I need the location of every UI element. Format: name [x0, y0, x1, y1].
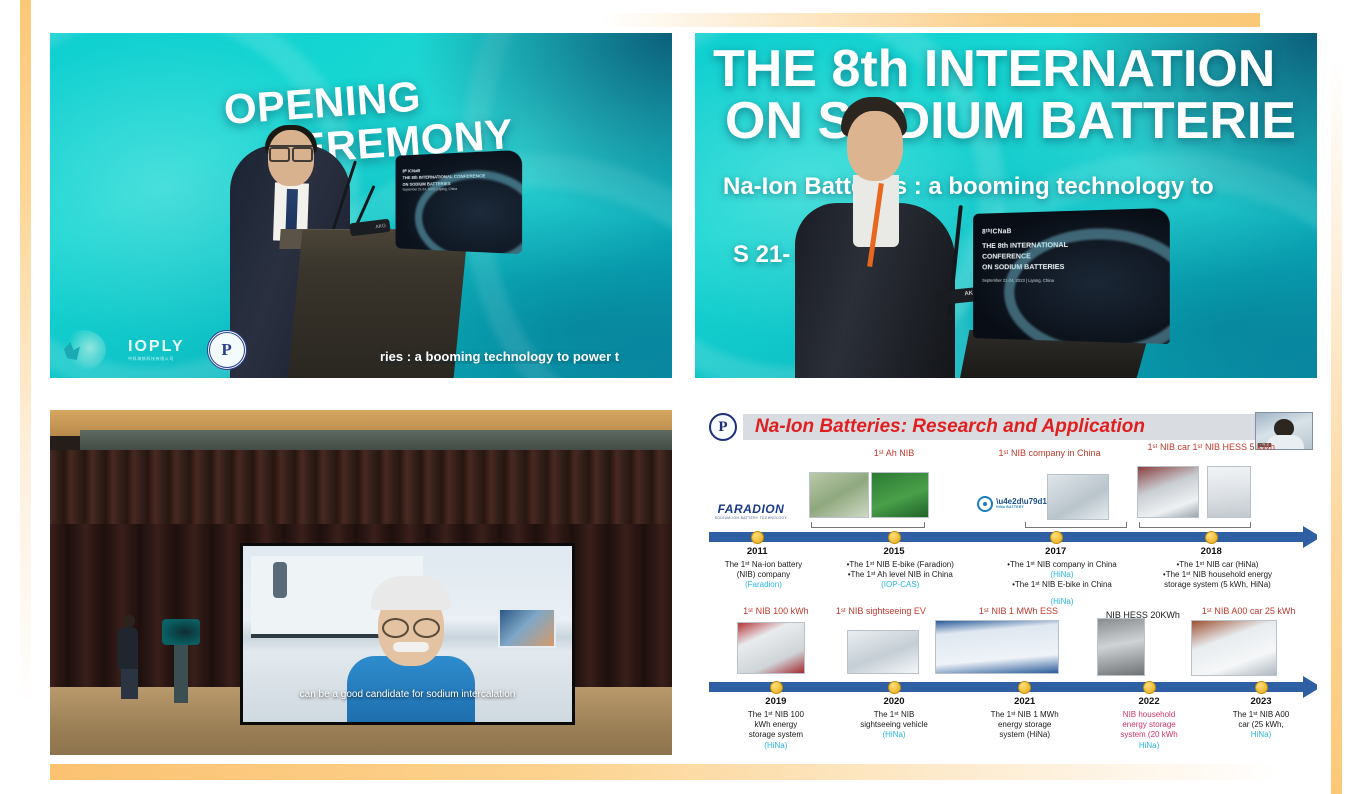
timeline-caption: The 1ˢᵗ NIB 1 MWh energy storage system …: [969, 710, 1081, 741]
auditorium-video-keynote-photo: can be a good candidate for sodium inter…: [50, 410, 672, 755]
thumbnail-sightseeing-ev: [847, 630, 919, 674]
timeline-year: 2023: [1250, 696, 1271, 707]
signage-line1: THE 8th INTERNATIONAL CONFERENCE: [982, 239, 1107, 262]
faradion-logo-sub: SODIUM-ION BATTERY TECHNOLOGY: [715, 516, 787, 520]
person-body: [118, 627, 138, 669]
stage-podium: [162, 619, 200, 703]
thumbnail-e-trike: [1047, 474, 1109, 520]
stage-curtain-valance: [50, 450, 672, 524]
institute-seal-icon: [709, 413, 737, 441]
podium-signage-text: 8ᵗʰICNaB THE 8th INTERNATIONAL CONFERENC…: [982, 226, 1107, 283]
thumbnail-nib-car: [1137, 466, 1199, 518]
timeline-caption: The 1ˢᵗ Na-ion battery (NIB) company (Fa…: [701, 560, 825, 591]
signage-line2: ON SODIUM BATTERIES: [982, 261, 1107, 272]
podium-signage: 8ᵗʰ ICNaB THE 8th INTERNATIONAL CONFEREN…: [396, 150, 523, 254]
ioply-logo-text: IOPLY: [128, 338, 185, 355]
opening-ceremony-photo: OPENING CEREMONY AKG 8ᵗʰ ICNaB THE 8th I…: [50, 33, 672, 378]
signage-date: September 21-24, 2023 | Liyang, China: [402, 187, 488, 193]
thumbnail-ebike: [809, 472, 869, 518]
screen-subtitle: ries : a booming technology to power t: [380, 349, 672, 364]
thumbnail-nib-hess: [1207, 466, 1251, 518]
timeline-node: [888, 681, 901, 694]
timeline-caption: •The 1ˢᵗ NIB E-bike (Faradion) •The 1ˢᵗ …: [812, 560, 988, 591]
thumbnail-hess-20kwh: [1097, 618, 1145, 676]
timeline-node: [770, 681, 783, 694]
timeline-node: [1050, 531, 1063, 544]
timeline-node: [1205, 531, 1218, 544]
video-caption: can be a good candidate for sodium inter…: [243, 689, 572, 700]
thumbnail-1mwh-ess: [935, 620, 1059, 674]
thumbnail-a00-car: [1191, 620, 1277, 676]
timeline-caption: •The 1ˢᵗ NIB car (HiNa) •The 1ˢᵗ NIB hou…: [1137, 560, 1297, 591]
sponsor-logo-row: IOPLY 中科海钠科技有限公司: [60, 330, 247, 370]
thumbnail-100kwh-ess: [737, 622, 805, 674]
na-ion-timeline-slide: Na-Ion Batteries: Research and Applicati…: [695, 410, 1317, 755]
faradion-logo: FARADION SODIUM-ION BATTERY TECHNOLOGY: [715, 502, 787, 520]
timeline-year: 2019: [765, 696, 786, 707]
glasses-icon: [382, 618, 440, 634]
led-screen: can be a good candidate for sodium inter…: [240, 543, 575, 725]
timeline-year: 2017: [1045, 546, 1066, 557]
on-stage-person: [118, 615, 140, 697]
podium-signage-text: 8ᵗʰ ICNaB THE 8th INTERNATIONAL CONFEREN…: [402, 166, 488, 193]
ioply-logo-sub: 中科海钠科技有限公司: [128, 356, 185, 362]
timeline-caption: The 1ˢᵗ NIB 100 kWh energy storage syste…: [722, 710, 830, 751]
slide-title-band: Na-Ion Batteries: Research and Applicati…: [743, 414, 1257, 440]
group-bracket: [811, 522, 925, 528]
glasses-icon: [269, 145, 313, 156]
hina-ring-icon: [977, 496, 993, 512]
institute-seal-icon: [207, 330, 247, 370]
conference-title-photo: THE 8th INTERNATION ON SODIUM BATTERIE N…: [695, 33, 1317, 378]
accent-bar-left: [20, 0, 31, 706]
timeline-row-2: 1ˢᵗ NIB 100 kWh 1ˢᵗ NIB sightseeing EV 1…: [695, 600, 1317, 755]
timeline-year: 2022: [1138, 696, 1159, 707]
signage-line2: ON SODIUM BATTERIES: [402, 180, 488, 188]
signage-line1: THE 8th INTERNATIONAL CONFERENCE: [402, 173, 488, 182]
screen-headline-line2: ON SODIUM BATTERIE: [725, 91, 1296, 151]
person-head: [123, 615, 135, 627]
timeline-node: [1255, 681, 1268, 694]
timeline-row-1: 1ˢᵗ Ah NIB 1ˢᵗ NIB company in China 1ˢᵗ …: [695, 440, 1317, 600]
accent-bar-right: [1331, 60, 1342, 794]
faradion-logo-text: FARADION: [718, 502, 785, 516]
milestone-top-label: 1ˢᵗ Ah NIB: [874, 448, 915, 458]
wall-picture: [498, 608, 556, 648]
photo-collage-grid: OPENING CEREMONY AKG 8ᵗʰ ICNaB THE 8th I…: [50, 33, 1290, 755]
milestone-top-label: 1ˢᵗ NIB 100 kWh: [743, 606, 809, 616]
timeline-year: 2015: [883, 546, 904, 557]
remote-speaker-hair: [371, 576, 451, 610]
slide-header: Na-Ion Batteries: Research and Applicati…: [695, 412, 1317, 442]
screen-subtitle-line1: Na-Ion Batteries : a booming technology …: [723, 173, 1214, 201]
milestone-top-label: 1ˢᵗ NIB sightseeing EV: [836, 606, 940, 616]
slide-canvas: Na-Ion Batteries: Research and Applicati…: [695, 410, 1317, 755]
accent-bar-bottom: [50, 764, 1280, 780]
timeline-year: 2011: [747, 546, 768, 557]
group-bracket: [1025, 522, 1127, 528]
timeline-year: 2018: [1201, 546, 1222, 557]
timeline-axis: [709, 682, 1305, 692]
thumbnail-ah-nib-pack: [871, 472, 929, 518]
timeline-caption: •The 1ˢᵗ NIB company in China (HiNa) •Th…: [978, 560, 1146, 591]
wall-speaker: [273, 562, 287, 598]
timeline-node: [888, 531, 901, 544]
moustache: [393, 642, 429, 652]
milestone-top-label: 1ˢᵗ NIB A00 car 25 kWh: [1202, 606, 1296, 616]
screen-headline-line1: THE 8th INTERNATION: [713, 39, 1275, 99]
timeline-node: [751, 531, 764, 544]
milestone-top-label: 1ˢᵗ NIB car 1ˢᵗ NIB HESS 5 kWh: [1136, 442, 1286, 452]
signage-brand: 8ᵗʰICNaB: [982, 226, 1107, 236]
podium-signage: 8ᵗʰICNaB THE 8th INTERNATIONAL CONFERENC…: [973, 208, 1170, 344]
signage-date: September 21-24, 2023 | Liyang, China: [982, 278, 1107, 283]
page-title: Na-Ion Batteries: Research and Applicati…: [743, 416, 1145, 438]
timeline-caption: The 1ˢᵗ NIB A00 car (25 kWh, HiNa): [1209, 710, 1313, 741]
moon-logo-icon: [60, 330, 106, 370]
ioply-logo: IOPLY 中科海钠科技有限公司: [128, 338, 185, 362]
accent-bar-top: [600, 13, 1260, 27]
timeline-year: 2021: [1014, 696, 1035, 707]
milestone-top-label: 1ˢᵗ NIB 1 MWh ESS: [979, 606, 1058, 616]
timeline-node: [1143, 681, 1156, 694]
speaker-head: [847, 111, 903, 181]
timeline-node: [1018, 681, 1031, 694]
person-legs: [121, 669, 138, 699]
timeline-year: 2020: [883, 696, 904, 707]
timeline-caption: The 1ˢᵗ NIB sightseeing vehicle (HiNa): [838, 710, 950, 741]
podium-stem: [174, 645, 188, 703]
milestone-top-label: 1ˢᵗ NIB company in China: [995, 448, 1105, 458]
timeline-caption: NIB household energy storage system (20 …: [1097, 710, 1201, 751]
group-bracket: [1139, 522, 1251, 528]
podium-top: [162, 619, 200, 645]
